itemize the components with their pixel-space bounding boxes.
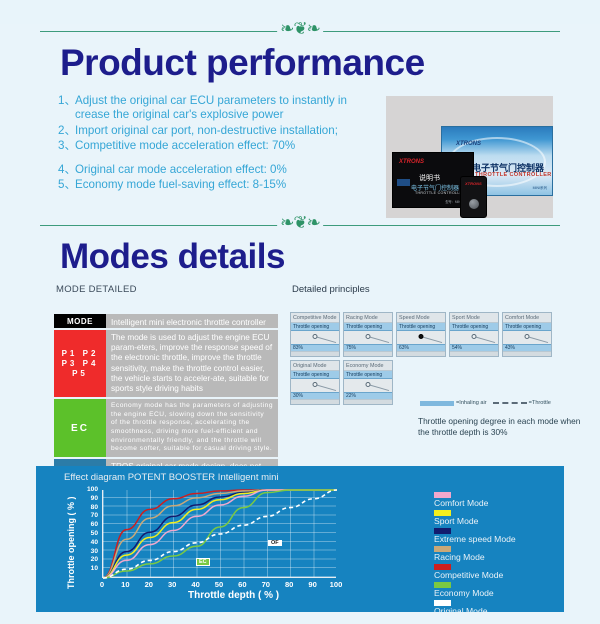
legend-label: Original Mode [434, 606, 516, 617]
product-device: XTRONS [460, 176, 487, 218]
principle-card-row: Original Mode Throttle opening 30% Econo… [290, 360, 552, 405]
card-value: 75% [344, 345, 392, 352]
effect-diagram-chart: Effect diagram POTENT BOOSTER Intelligen… [36, 466, 564, 612]
chart-series-original-mode [103, 490, 337, 578]
mode-value-cell: Economy mode has the parameters of adjus… [106, 399, 278, 457]
chart-legend-item: Sport Mode [434, 510, 516, 527]
legend-label: Competitive Mode [434, 570, 516, 581]
legend-label: Racing Mode [434, 552, 516, 563]
card-value: 54% [450, 345, 498, 352]
card-marker-icon [472, 334, 477, 339]
chart-legend-item: Comfort Mode [434, 492, 516, 509]
card-bar-label: Throttle opening [503, 323, 551, 331]
legend-label: Extreme speed Mode [434, 534, 516, 545]
chart-x-tick: 60 [235, 580, 249, 589]
card-marker-icon [313, 334, 318, 339]
page-title-modes-details: Modes details [0, 234, 600, 280]
card-base: 75% [344, 344, 392, 351]
card-bar-label: Throttle opening [397, 323, 445, 331]
chart-x-tick: 70 [259, 580, 273, 589]
chart-legend-item: Competitive Mode [434, 564, 516, 581]
chart-y-tick: 20 [82, 556, 98, 563]
p-codes-line-1: P1 P2 [62, 349, 99, 359]
card-marker-icon [525, 334, 530, 339]
mode-key-cell: MODE [54, 314, 106, 328]
card-bar: Throttle opening [291, 371, 339, 379]
card-title: Sport Mode [450, 313, 498, 323]
card-gauge: Throttle opening 83% [291, 323, 339, 351]
bullet-text: Import original car port, non-destructiv… [75, 124, 338, 138]
legend-label: Comfort Mode [434, 498, 516, 509]
mode-key-cell-p: P1 P2 P3 P4 P5 [54, 330, 106, 397]
principle-card-row: Competitive Mode Throttle opening 83% Ra… [290, 312, 552, 357]
card-gauge: Throttle opening 43% [503, 323, 551, 351]
card-base: 22% [344, 392, 392, 399]
chart-x-tick: 80 [282, 580, 296, 589]
mode-value-cell: The mode is used to adjust the engine EC… [106, 330, 278, 397]
chart-x-tick: 30 [165, 580, 179, 589]
card-bar: Throttle opening [397, 323, 445, 331]
chart-x-tick: 10 [118, 580, 132, 589]
mode-key-cell-ec: EC [54, 399, 106, 457]
legend-row: =Inhaling air =Throttle [420, 400, 590, 406]
inhaling-air-swatch-icon [420, 401, 454, 406]
bullet-number: 2、 [58, 124, 75, 138]
chart-x-tick: 40 [189, 580, 203, 589]
chart-legend-item: Racing Mode [434, 546, 516, 563]
bullet-number: 5、 [58, 178, 75, 192]
card-base: 43% [503, 344, 551, 351]
card-gauge: Throttle opening 30% [291, 371, 339, 399]
chart-curves [103, 490, 337, 578]
card-value: 43% [503, 345, 551, 352]
chart-annotation-of: OF [268, 540, 282, 546]
chart-legend: Comfort ModeSport ModeExtreme speed Mode… [434, 492, 516, 618]
chart-y-tick: 50 [82, 530, 98, 537]
card-bar: Throttle opening [450, 323, 498, 331]
table-row: EC Economy mode has the parameters of ad… [54, 399, 278, 457]
chart-y-tick: 70 [82, 512, 98, 519]
card-marker-icon [419, 334, 424, 339]
product-photo: XTRONS 电子节气门控制器 THROTTLE CONTROLLER MINI… [386, 96, 553, 218]
card-bar-label: Throttle opening [450, 323, 498, 331]
principle-card: Economy Mode Throttle opening 22% [343, 360, 393, 405]
mode-detailed-label: MODE DETAILED [56, 284, 137, 295]
principle-card: Comfort Mode Throttle opening 43% [502, 312, 552, 357]
principle-card: Competitive Mode Throttle opening 83% [290, 312, 340, 357]
card-marker-icon [366, 382, 371, 387]
section-divider-middle: ❧❦❧ [0, 218, 600, 232]
chart-y-tick: 40 [82, 539, 98, 546]
chart-legend-item: Economy Mode [434, 582, 516, 599]
card-gauge: Throttle opening 63% [397, 323, 445, 351]
card-base: 54% [450, 344, 498, 351]
card-gauge: Throttle opening 22% [344, 371, 392, 399]
chart-x-tick: 20 [142, 580, 156, 589]
bullet-number: 1、 [58, 94, 75, 123]
device-knob-icon [469, 199, 479, 209]
card-value: 63% [397, 345, 445, 352]
card-bar-label: Throttle opening [291, 323, 339, 331]
legend-label: Sport Mode [434, 516, 516, 527]
card-title: Original Mode [291, 361, 339, 371]
chart-legend-item: Original Mode [434, 600, 516, 617]
detailed-principles-label: Detailed principles [292, 284, 370, 295]
chart-y-tick: 100 [82, 486, 98, 493]
manual-title-cn: 说明书 [419, 173, 440, 183]
principle-card: Speed Mode Throttle opening 63% [396, 312, 446, 357]
table-row: P1 P2 P3 P4 P5 The mode is used to adjus… [54, 330, 278, 397]
card-base: 83% [291, 344, 339, 351]
throttle-label: =Throttle [529, 400, 551, 406]
list-item: 2、 Import original car port, non-destruc… [58, 124, 350, 138]
ornament-icon: ❧❦❧ [277, 21, 323, 38]
box-model-label: MINI系列 [533, 186, 547, 191]
card-bar: Throttle opening [344, 371, 392, 379]
card-title: Competitive Mode [291, 313, 339, 323]
card-bar-label: Throttle opening [344, 323, 392, 331]
card-title: Comfort Mode [503, 313, 551, 323]
p-codes-line-3: P5 [62, 369, 99, 379]
chart-title: Effect diagram POTENT BOOSTER Intelligen… [64, 472, 279, 483]
card-gauge: Throttle opening 75% [344, 323, 392, 351]
chart-legend-item: Extreme speed Mode [434, 528, 516, 545]
chart-x-axis-label: Throttle depth ( % ) [188, 590, 279, 601]
infographic-page: ❧❦❧ Product performance 1、 Adjust the or… [0, 24, 600, 624]
chart-plot-area [102, 490, 336, 578]
chart-y-tick: 80 [82, 504, 98, 511]
manual-brand-label: XTRONS [399, 159, 424, 165]
throttle-dash-icon [493, 402, 527, 404]
chart-y-tick: 60 [82, 521, 98, 528]
legend-label: Economy Mode [434, 588, 516, 599]
bullet-text: Adjust the original car ECU parameters t… [75, 94, 350, 123]
modes-subheaders: MODE DETAILED Detailed principles [0, 284, 600, 298]
principle-card: Original Mode Throttle opening 30% [290, 360, 340, 405]
chart-y-tick: 10 [82, 565, 98, 572]
device-brand-label: XTRONS [465, 181, 482, 186]
list-item: 3、 Competitive mode acceleration effect:… [58, 139, 350, 153]
card-value: 83% [291, 345, 339, 352]
chart-annotation-ec: EC [196, 558, 210, 566]
bullet-number: 3、 [58, 139, 75, 153]
bullet-text: Original car mode acceleration effect: 0… [75, 163, 287, 177]
chart-x-tick: 50 [212, 580, 226, 589]
card-base: 30% [291, 392, 339, 399]
chart-y-tick: 90 [82, 495, 98, 502]
box-brand-label: XTRONS [456, 141, 481, 147]
principle-card: Racing Mode Throttle opening 75% [343, 312, 393, 357]
list-item: 1、 Adjust the original car ECU parameter… [58, 94, 350, 123]
card-gauge: Throttle opening 54% [450, 323, 498, 351]
chart-x-tick: 0 [95, 580, 109, 589]
performance-bullet-list: 1、 Adjust the original car ECU parameter… [0, 94, 350, 192]
card-title: Racing Mode [344, 313, 392, 323]
inhaling-air-label: =Inhaling air [456, 400, 487, 406]
card-bar: Throttle opening [503, 323, 551, 331]
chart-x-tick: 90 [306, 580, 320, 589]
chart-y-tick: 30 [82, 548, 98, 555]
bullet-text: Economy mode fuel-saving effect: 8-15% [75, 178, 286, 192]
principle-card: Sport Mode Throttle opening 54% [449, 312, 499, 357]
section-divider-top: ❧❦❧ [0, 24, 600, 38]
manual-title-en: THROTTLE CONTROLLER [415, 191, 465, 195]
bullet-number: 4、 [58, 163, 75, 177]
principles-caption: Throttle opening degree in each mode whe… [418, 416, 593, 438]
list-item: 4、 Original car mode acceleration effect… [58, 163, 350, 177]
ornament-icon: ❧❦❧ [277, 215, 323, 232]
bullet-text: Competitive mode acceleration effect: 70… [75, 139, 295, 153]
principles-legend: =Inhaling air =Throttle [420, 400, 590, 406]
card-bar-label: Throttle opening [344, 371, 392, 379]
chart-x-tick: 100 [329, 580, 343, 589]
chart-y-axis-label: Throttle opening ( % ) [66, 488, 80, 598]
card-marker-icon [366, 334, 371, 339]
card-base: 63% [397, 344, 445, 351]
card-marker-icon [313, 382, 318, 387]
card-bar: Throttle opening [344, 323, 392, 331]
card-bar: Throttle opening [291, 323, 339, 331]
manual-badge [397, 179, 410, 186]
table-row: MODE Intelligent mini electronic throttl… [54, 314, 278, 328]
card-title: Speed Mode [397, 313, 445, 323]
list-item: 5、 Economy mode fuel-saving effect: 8-15… [58, 178, 350, 192]
principle-card-grid: Competitive Mode Throttle opening 83% Ra… [290, 312, 552, 408]
mode-value-cell: Intelligent mini electronic throttle con… [106, 314, 278, 328]
card-bar-label: Throttle opening [291, 371, 339, 379]
card-title: Economy Mode [344, 361, 392, 371]
page-title-product-performance: Product performance [0, 40, 600, 86]
card-value: 22% [344, 393, 392, 400]
card-value: 30% [291, 393, 339, 400]
p-codes-line-2: P3 P4 [62, 359, 99, 369]
